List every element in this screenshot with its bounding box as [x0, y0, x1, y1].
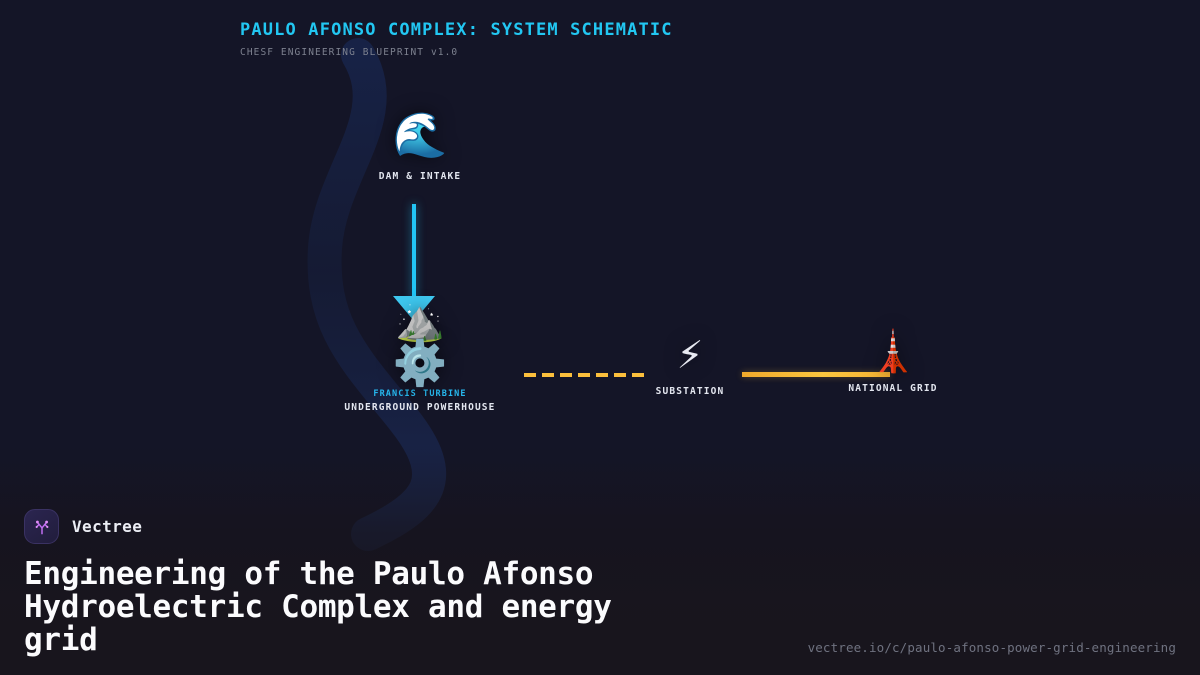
node-national-grid[interactable]: 🗼 NATIONAL GRID [813, 332, 973, 394]
node-substation-label: SUBSTATION [656, 386, 725, 397]
node-underground-powerhouse[interactable]: ⛰️ ⚙️ FRANCIS TURBINE UNDERGROUND POWERH… [335, 297, 505, 413]
page-title: PAULO AFONSO COMPLEX: SYSTEM SCHEMATIC [240, 20, 673, 40]
water-wave-icon: 🌊 [393, 114, 448, 158]
powerhouse-icon-stack: ⛰️ ⚙️ [380, 297, 460, 389]
node-powerhouse-label: UNDERGROUND POWERHOUSE [344, 402, 495, 413]
brand-row: Vectree [24, 509, 1176, 544]
page-subtitle: CHESF ENGINEERING BLUEPRINT v1.0 [240, 47, 673, 58]
footer: Vectree Engineering of the Paulo Afonso … [0, 509, 1200, 675]
headline: Engineering of the Paulo Afonso Hydroele… [24, 558, 754, 657]
mountain-icon: ⛰️ [380, 301, 460, 341]
node-substation[interactable]: ⚡ SUBSTATION [610, 336, 770, 397]
node-dam-intake-label: DAM & INTAKE [379, 171, 461, 182]
node-dam-intake[interactable]: 🌊 DAM & INTAKE [340, 114, 500, 182]
source-url: vectree.io/c/paulo-afonso-power-grid-eng… [808, 640, 1176, 655]
node-powerhouse-sublabel: FRANCIS TURBINE [373, 389, 466, 399]
gear-icon: ⚙️ [380, 342, 460, 386]
transmission-tower-icon: 🗼 [868, 332, 918, 372]
connector-penstock [412, 204, 416, 300]
schematic-header: PAULO AFONSO COMPLEX: SYSTEM SCHEMATIC C… [240, 20, 673, 58]
node-national-grid-label: NATIONAL GRID [848, 383, 937, 394]
high-voltage-icon: ⚡ [677, 336, 704, 374]
brand-name: Vectree [72, 517, 142, 536]
vectree-branch-logo [24, 509, 59, 544]
